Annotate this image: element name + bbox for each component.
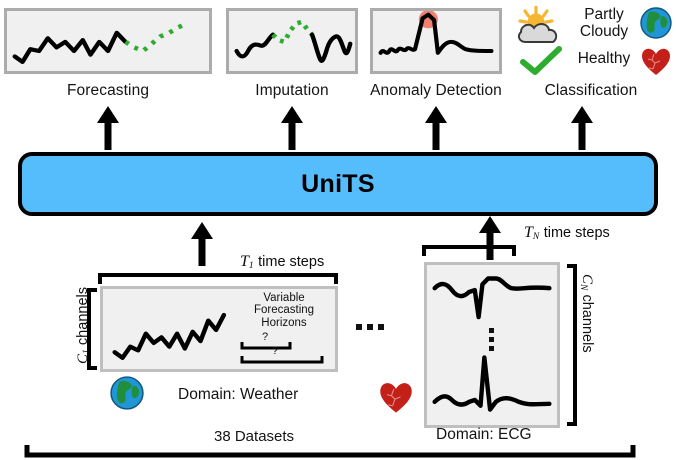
ecg-channels-ellipsis <box>489 328 494 351</box>
horizon-bracket-short <box>240 341 292 350</box>
weather-time-steps-bracket <box>98 272 338 284</box>
ecg-channels-text: channels <box>579 295 595 353</box>
ecg-channels-symbol: C <box>579 274 595 284</box>
ecg-channels-bracket <box>566 264 578 426</box>
imputation-chart-icon <box>229 11 355 71</box>
weather-result-line1: Partly <box>570 6 638 23</box>
ecg-domain-heart-icon <box>378 380 414 416</box>
arrow-to-imputation <box>280 106 304 150</box>
classification-label: Classification <box>510 82 672 100</box>
imputation-panel <box>226 8 358 74</box>
units-architecture-figure: Forecasting Imputation Anomaly Detection <box>0 0 676 460</box>
arrow-to-forecasting <box>96 106 120 150</box>
ecg-time-steps-symbol: T <box>524 224 533 241</box>
weather-domain-label: Domain: Weather <box>178 386 298 404</box>
heart-icon <box>640 46 672 78</box>
classification-result-health: Healthy <box>570 50 638 67</box>
datasets-ellipsis <box>356 324 384 330</box>
arrow-to-anomaly-detection <box>424 106 448 150</box>
weather-time-steps-label: time steps <box>258 254 324 270</box>
classification-result-weather: Partly Cloudy <box>570 6 638 40</box>
weather-time-steps-annotation: T1 time steps <box>240 253 324 271</box>
vfh-line2: Forecasting <box>236 304 332 316</box>
all-datasets-bracket <box>24 444 636 458</box>
horizon-bracket-long <box>240 355 324 364</box>
weather-result-line2: Cloudy <box>570 23 638 40</box>
ecg-channels-subscript: N <box>578 284 588 290</box>
forecasting-label: Forecasting <box>4 82 212 100</box>
dataset-count-label: 38 Datasets <box>214 428 294 445</box>
globe-icon <box>640 7 672 39</box>
forecasting-panel <box>4 8 212 74</box>
vfh-line1: Variable <box>236 292 332 304</box>
ecg-time-steps-subscript: N <box>533 232 539 242</box>
ecg-time-steps-annotation: TN time steps <box>524 224 610 242</box>
anomaly-chart-icon <box>373 11 499 71</box>
weather-domain-globe-icon <box>110 376 144 410</box>
arrow-to-classification <box>570 106 594 150</box>
imputation-label: Imputation <box>226 82 358 100</box>
arrow-weather-to-units <box>190 222 214 266</box>
ecg-domain-label: Domain: ECG <box>436 426 532 444</box>
units-model-label: UniTS <box>301 170 375 199</box>
health-result-line1: Healthy <box>570 50 638 67</box>
ecg-time-steps-bracket <box>422 244 516 256</box>
weather-time-steps-symbol: T <box>240 253 249 270</box>
classification-panel: Partly Cloudy Healthy <box>512 4 672 78</box>
units-model-box: UniTS <box>18 152 658 216</box>
ecg-time-steps-label: time steps <box>544 225 610 241</box>
anomaly-detection-label: Anomaly Detection <box>362 82 510 100</box>
sun-cloud-icon <box>512 6 570 46</box>
anomaly-detection-panel <box>370 8 502 74</box>
forecast-chart-icon <box>7 11 209 71</box>
variable-forecasting-horizons-annotation: Variable Forecasting Horizons <box>236 292 332 329</box>
weather-time-steps-subscript: 1 <box>249 261 254 271</box>
weather-channels-bracket <box>86 288 98 370</box>
vfh-line3: Horizons <box>236 317 332 329</box>
green-check-icon <box>518 46 564 76</box>
ecg-channels-label: CN channels <box>578 274 596 353</box>
